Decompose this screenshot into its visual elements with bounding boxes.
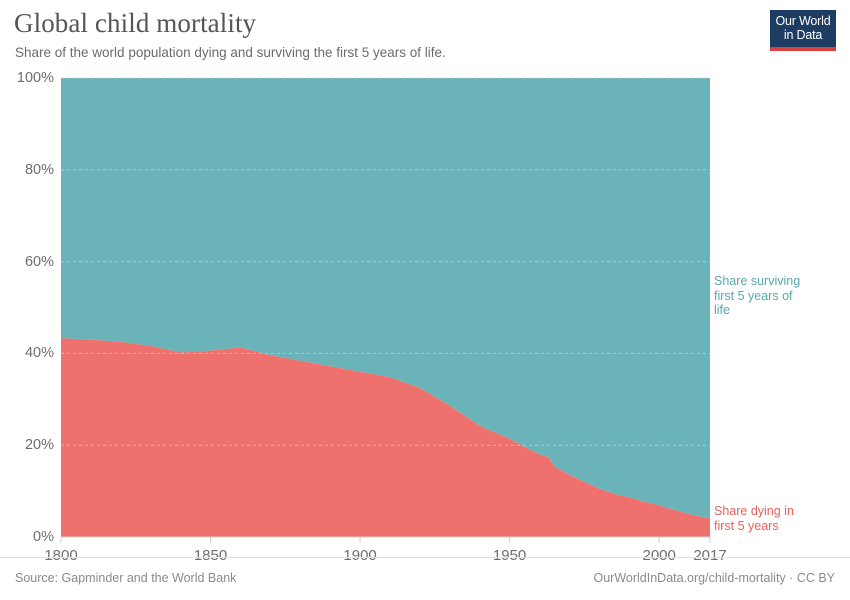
footer-source-text: Source: Gapminder and the World Bank bbox=[15, 571, 236, 585]
chart-plot-area[interactable]: 0%20%40%60%80%100% 180018501900195020002… bbox=[0, 66, 850, 556]
logo-line-2: in Data bbox=[770, 28, 836, 42]
series-label-dying: Share dying in first 5 years bbox=[714, 504, 794, 533]
series-label-surviving: Share surviving first 5 years of life bbox=[714, 274, 800, 318]
series-label-surviving-line1: Share surviving bbox=[714, 274, 800, 289]
series-label-surviving-line3: life bbox=[714, 303, 800, 318]
chart-subtitle: Share of the world population dying and … bbox=[15, 45, 754, 60]
series-label-surviving-line2: first 5 years of bbox=[714, 289, 800, 304]
chart-header: Global child mortality Share of the worl… bbox=[14, 8, 754, 60]
series-label-dying-line1: Share dying in bbox=[714, 504, 794, 519]
logo-line-1: Our World bbox=[770, 14, 836, 28]
chart-footer: Source: Gapminder and the World Bank Our… bbox=[0, 557, 850, 600]
page-title: Global child mortality bbox=[14, 8, 754, 39]
series-label-dying-line2: first 5 years bbox=[714, 519, 794, 534]
footer-link-text[interactable]: OurWorldInData.org/child-mortality · CC … bbox=[593, 571, 835, 585]
our-world-in-data-logo[interactable]: Our World in Data bbox=[770, 10, 836, 51]
